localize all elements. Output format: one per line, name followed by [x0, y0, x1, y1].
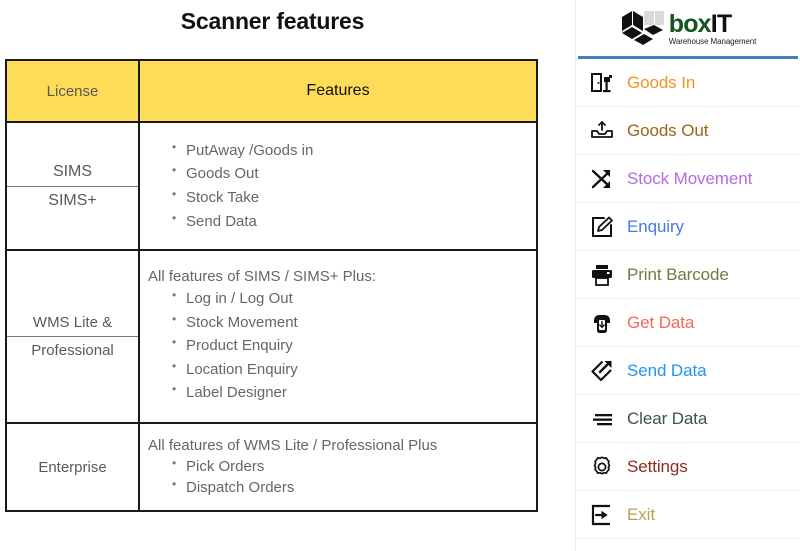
list-item: Stock Take — [186, 186, 536, 210]
pencil-note-icon — [589, 214, 615, 240]
license-cell: WMS Lite & Professional — [6, 250, 139, 423]
menu-item-enquiry[interactable]: Enquiry — [576, 203, 800, 251]
menu-item-label: Enquiry — [627, 217, 684, 237]
menu-item-label: Settings — [627, 457, 688, 477]
menu-item-label: Goods Out — [627, 121, 708, 141]
feature-list: PutAway /Goods in Goods Out Stock Take S… — [140, 139, 536, 233]
menu-item-label: Goods In — [627, 73, 695, 93]
printer-icon — [589, 262, 615, 288]
menu-item-send-data[interactable]: Send Data — [576, 347, 800, 395]
menu-item-goods-in[interactable]: Goods In — [576, 59, 800, 107]
menu-item-print-barcode[interactable]: Print Barcode — [576, 251, 800, 299]
menu-item-label: Print Barcode — [627, 265, 729, 285]
license-name: Professional — [7, 337, 138, 364]
logo-word-black: IT — [711, 10, 732, 38]
column-header-license: License — [6, 60, 139, 122]
boxit-wordmark: boxIT Warehouse Management — [669, 12, 757, 46]
door-scanner-icon — [589, 70, 615, 96]
menu-item-label: Stock Movement — [627, 169, 752, 189]
list-item: Label Designer — [186, 381, 536, 405]
boxit-logo: boxIT Warehouse Management — [576, 0, 800, 56]
features-intro: All features of WMS Lite / Professional … — [148, 437, 536, 454]
list-item: Send Data — [186, 210, 536, 234]
list-item: Product Enquiry — [186, 334, 536, 358]
menu-item-get-data[interactable]: Get Data — [576, 299, 800, 347]
features-cell: PutAway /Goods in Goods Out Stock Take S… — [139, 122, 537, 250]
menu-item-label: Clear Data — [627, 409, 707, 429]
license-cell: Enterprise — [6, 423, 139, 511]
share-upload-icon — [589, 358, 615, 384]
exit-arrow-icon — [589, 502, 615, 528]
features-cell: All features of WMS Lite / Professional … — [139, 423, 537, 511]
menu-item-clear-data[interactable]: Clear Data — [576, 395, 800, 443]
license-cell: SIMS SIMS+ — [6, 122, 139, 250]
logo-word: boxIT — [669, 12, 757, 37]
features-cell: All features of SIMS / SIMS+ Plus: Log i… — [139, 250, 537, 423]
table-header-row: License Features — [6, 60, 537, 122]
list-item: Stock Movement — [186, 311, 536, 335]
device-download-icon — [589, 310, 615, 336]
table-row: SIMS SIMS+ PutAway /Goods in Goods Out S… — [6, 122, 537, 250]
column-header-features: Features — [139, 60, 537, 122]
menu-item-label: Get Data — [627, 313, 694, 333]
menu-item-stock-movement[interactable]: Stock Movement — [576, 155, 800, 203]
boxit-cubes-icon — [620, 9, 664, 49]
shuffle-arrows-icon — [589, 166, 615, 192]
page-title: Scanner features — [0, 0, 545, 35]
list-item: Pick Orders — [186, 456, 536, 477]
list-item: Dispatch Orders — [186, 477, 536, 498]
gear-icon — [589, 454, 615, 480]
scanner-features-table: License Features SIMS SIMS+ PutAway /Goo… — [5, 59, 538, 512]
table-row: Enterprise All features of WMS Lite / Pr… — [6, 423, 537, 511]
logo-word-green: box — [669, 10, 711, 38]
menu-item-label: Send Data — [627, 361, 706, 381]
menu-item-label: Exit — [627, 505, 655, 525]
license-name: SIMS+ — [7, 187, 138, 215]
outbox-upload-icon — [589, 118, 615, 144]
clear-lines-icon — [589, 406, 615, 432]
logo-tagline: Warehouse Management — [669, 38, 757, 46]
table-row: WMS Lite & Professional All features of … — [6, 250, 537, 423]
license-name: WMS Lite & — [7, 309, 138, 337]
features-intro: All features of SIMS / SIMS+ Plus: — [148, 268, 536, 285]
feature-list: Log in / Log Out Stock Movement Product … — [140, 287, 536, 405]
list-item: Goods Out — [186, 162, 536, 186]
list-item: PutAway /Goods in — [186, 139, 536, 163]
license-name: SIMS — [7, 158, 138, 187]
menu-item-exit[interactable]: Exit — [576, 491, 800, 539]
menu-item-goods-out[interactable]: Goods Out — [576, 107, 800, 155]
app-menu-panel: boxIT Warehouse Management Goods In — [575, 0, 800, 551]
scanner-features-panel: Scanner features License Features SIMS S… — [0, 0, 575, 551]
list-item: Log in / Log Out — [186, 287, 536, 311]
menu-item-settings[interactable]: Settings — [576, 443, 800, 491]
list-item: Location Enquiry — [186, 358, 536, 382]
feature-list: Pick Orders Dispatch Orders — [140, 456, 536, 498]
